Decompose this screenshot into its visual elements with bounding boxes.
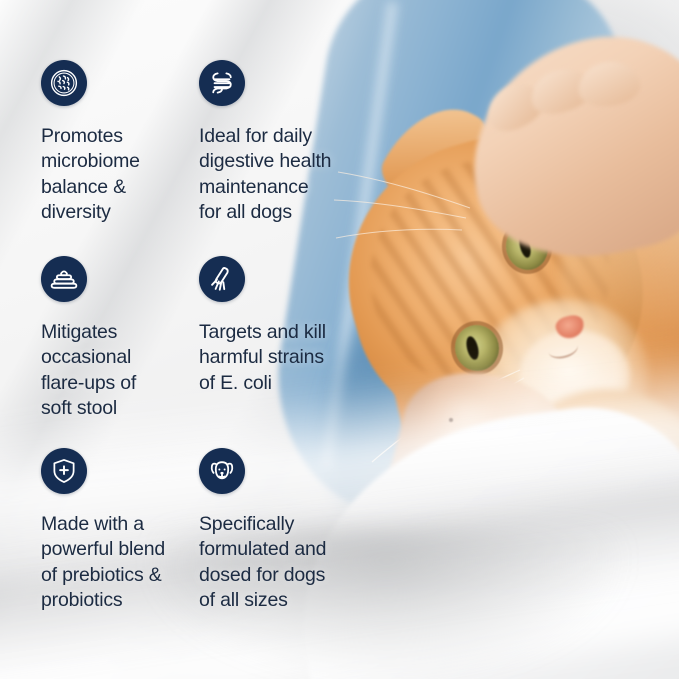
feature-item-digestive-health: Ideal for daily digestive health mainten… bbox=[199, 60, 374, 256]
grid-spacer-row2 bbox=[374, 256, 679, 448]
feature-item-soft-stool: Mitigates occasional flare-ups of soft s… bbox=[41, 256, 199, 448]
feature-item-ecoli: Targets and kill harmful strains of E. c… bbox=[199, 256, 374, 448]
product-feature-infographic: Promotes microbiome balance & diversity … bbox=[0, 0, 679, 679]
intestine-gut-icon bbox=[199, 60, 245, 106]
feature-item-prebiotics: Made with a powerful blend of prebiotics… bbox=[41, 448, 199, 679]
dog-face-icon bbox=[199, 448, 245, 494]
feature-label: Ideal for daily digestive health mainten… bbox=[199, 124, 374, 225]
feature-label: Specifically formulated and dosed for do… bbox=[199, 512, 374, 613]
e-coli-bacteria-icon bbox=[199, 256, 245, 302]
feature-grid: Promotes microbiome balance & diversity … bbox=[0, 0, 679, 679]
grid-spacer-row1 bbox=[374, 60, 679, 256]
feature-label: Mitigates occasional flare-ups of soft s… bbox=[41, 320, 199, 421]
feature-item-all-sizes: Specifically formulated and dosed for do… bbox=[199, 448, 374, 679]
feature-item-microbiome: Promotes microbiome balance & diversity bbox=[41, 60, 199, 256]
feature-label: Made with a powerful blend of prebiotics… bbox=[41, 512, 199, 613]
grid-spacer-row3 bbox=[374, 448, 679, 679]
microbiome-petri-dish-icon bbox=[41, 60, 87, 106]
stool-icon bbox=[41, 256, 87, 302]
feature-label: Promotes microbiome balance & diversity bbox=[41, 124, 199, 225]
shield-plus-icon bbox=[41, 448, 87, 494]
feature-label: Targets and kill harmful strains of E. c… bbox=[199, 320, 374, 396]
